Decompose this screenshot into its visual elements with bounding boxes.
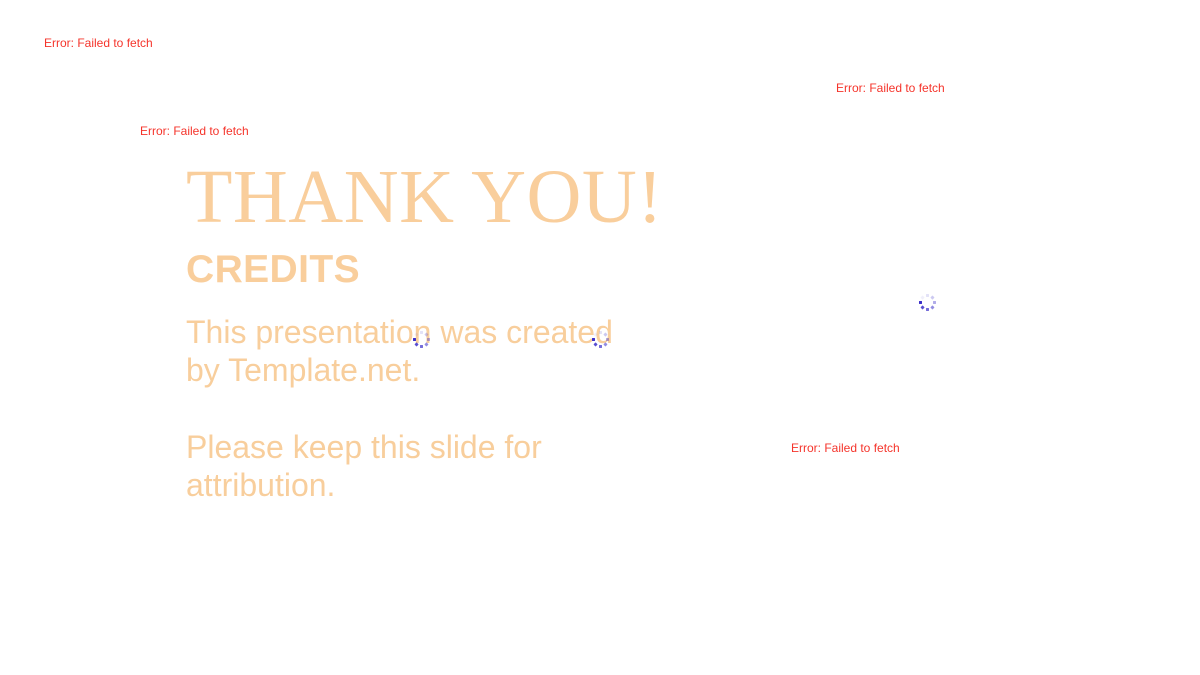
error-message: Error: Failed to fetch: [44, 37, 153, 49]
loading-spinner-icon: [412, 330, 430, 348]
error-message: Error: Failed to fetch: [836, 82, 945, 94]
attribution-text: This presentation was created by Templat…: [186, 313, 626, 389]
loading-spinner-icon: [918, 293, 936, 311]
error-message: Error: Failed to fetch: [791, 442, 900, 454]
page-title: THANK YOU!: [186, 160, 746, 234]
slide-canvas: THANK YOU! CREDITS This presentation was…: [0, 0, 1200, 675]
credits-heading: CREDITS: [186, 250, 746, 291]
error-message: Error: Failed to fetch: [140, 125, 249, 137]
loading-spinner-icon: [591, 330, 609, 348]
slide-content-block: THANK YOU! CREDITS This presentation was…: [186, 160, 746, 504]
keep-slide-text: Please keep this slide for attribution.: [186, 428, 556, 504]
